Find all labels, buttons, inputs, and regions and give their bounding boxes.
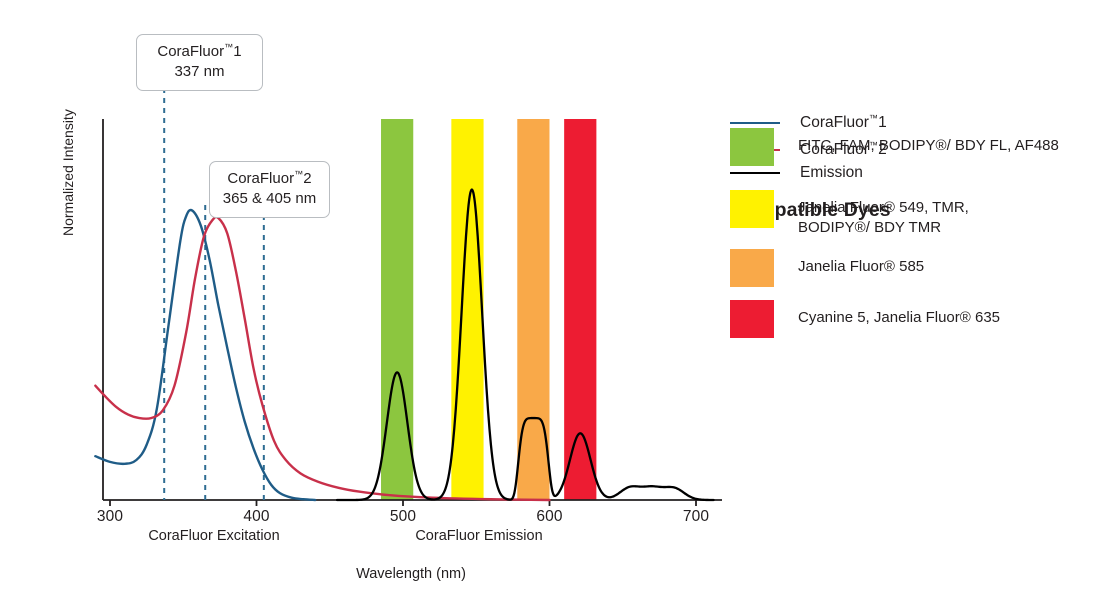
callout-corafluor-2: CoraFluor™2 365 & 405 nm (209, 161, 330, 218)
dye-color-swatch (730, 128, 774, 166)
x-tick-label-300: 300 (80, 508, 140, 526)
dye-label: Cyanine 5, Janelia Fluor® 635 (798, 300, 1000, 328)
callout-corafluor-1: CoraFluor™1 337 nm (136, 34, 263, 91)
x-tick-label-600: 600 (520, 508, 580, 526)
dye-row: FITC, FAM, BODIPY®/ BDY FL, AF488 (730, 128, 1059, 166)
dye-row: Cyanine 5, Janelia Fluor® 635 (730, 300, 1000, 338)
excitation-region-label: CoraFluor Excitation (148, 528, 279, 544)
dye-label: Janelia Fluor® 585 (798, 249, 924, 277)
legend-line-swatch-emission (730, 172, 780, 174)
compatible-dye-bands (381, 119, 596, 500)
callout-cf1-index: 1 (233, 43, 241, 60)
green-band (381, 119, 413, 500)
orange-band (517, 119, 549, 500)
dye-label: FITC, FAM, BODIPY®/ BDY FL, AF488 (798, 128, 1059, 156)
dye-label: Janelia Fluor® 549, TMR, BODIPY®/ BDY TM… (798, 190, 969, 238)
x-axis-title: Wavelength (nm) (356, 566, 466, 582)
legend-line-swatch-corafluor-1 (730, 122, 780, 124)
emission-region-label: CoraFluor Emission (415, 528, 542, 544)
red-band (564, 119, 596, 500)
trademark-icon: ™ (869, 113, 878, 123)
dye-color-swatch (730, 300, 774, 338)
callout-cf1-name: CoraFluor (157, 43, 224, 60)
legend-series-label: Emission (800, 164, 863, 182)
legend-series-name: Emission (800, 164, 863, 181)
callout-cf2-title: CoraFluor™2 (222, 169, 317, 189)
callout-cf2-index: 2 (303, 170, 311, 187)
x-tick-label-400: 400 (227, 508, 287, 526)
spectra-figure: 300400500600700 CoraFluor Excitation Cor… (0, 0, 1110, 612)
chart-plot-area: 300400500600700 CoraFluor Excitation Cor… (0, 0, 730, 612)
callout-cf1-title: CoraFluor™1 (149, 42, 250, 62)
trademark-icon: ™ (294, 169, 303, 179)
trademark-icon: ™ (224, 42, 233, 52)
legend-series-emission: Emission (730, 164, 863, 182)
callout-cf1-value: 337 nm (149, 62, 250, 82)
dye-color-swatch (730, 190, 774, 228)
legend-panel: CoraFluor™1 CoraFluor™2 Emission Compati… (730, 0, 1110, 612)
dye-color-swatch (730, 249, 774, 287)
x-tick-label-700: 700 (666, 508, 726, 526)
dye-row: Janelia Fluor® 549, TMR, BODIPY®/ BDY TM… (730, 190, 969, 238)
yellow-band (451, 119, 483, 500)
dye-row: Janelia Fluor® 585 (730, 249, 924, 287)
x-tick-label-500: 500 (373, 508, 433, 526)
callout-cf2-value: 365 & 405 nm (222, 189, 317, 209)
y-axis-title: Normalized Intensity (60, 109, 76, 236)
callout-cf2-name: CoraFluor (227, 170, 294, 187)
